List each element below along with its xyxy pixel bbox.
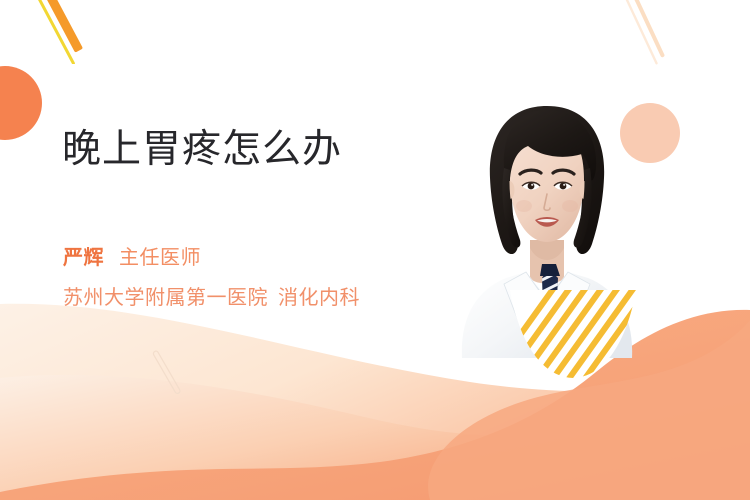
stripe-orange [35, 0, 83, 53]
stripe-faint-a [625, 0, 665, 58]
stripe-faint-b [620, 0, 658, 65]
striped-half-disc-icon [508, 288, 638, 380]
video-cover-canvas: 晚上胃疼怎么办 严辉主任医师 苏州大学附属第一医院消化内科 [0, 0, 750, 500]
stripe-yellow [28, 0, 76, 64]
page-title: 晚上胃疼怎么办 [62, 118, 342, 174]
stripe-outline [153, 350, 181, 394]
doctor-credentials: 严辉主任医师 [63, 248, 201, 268]
diagonal-stripes-icon-top-right [620, 0, 700, 66]
hospital-name: 苏州大学附属第一医院 [63, 287, 268, 309]
department-name: 消化内科 [278, 287, 360, 309]
orange-circle-icon [0, 66, 42, 140]
doctor-title: 主任医师 [119, 247, 201, 269]
doctor-affiliation: 苏州大学附属第一医院消化内科 [63, 288, 360, 308]
diagonal-stripe-icon-mid-left [140, 345, 200, 405]
doctor-name: 严辉 [63, 247, 104, 269]
diagonal-stripes-icon-top-left [20, 0, 130, 64]
cheek-right [562, 200, 578, 212]
cheek-left [516, 200, 532, 212]
